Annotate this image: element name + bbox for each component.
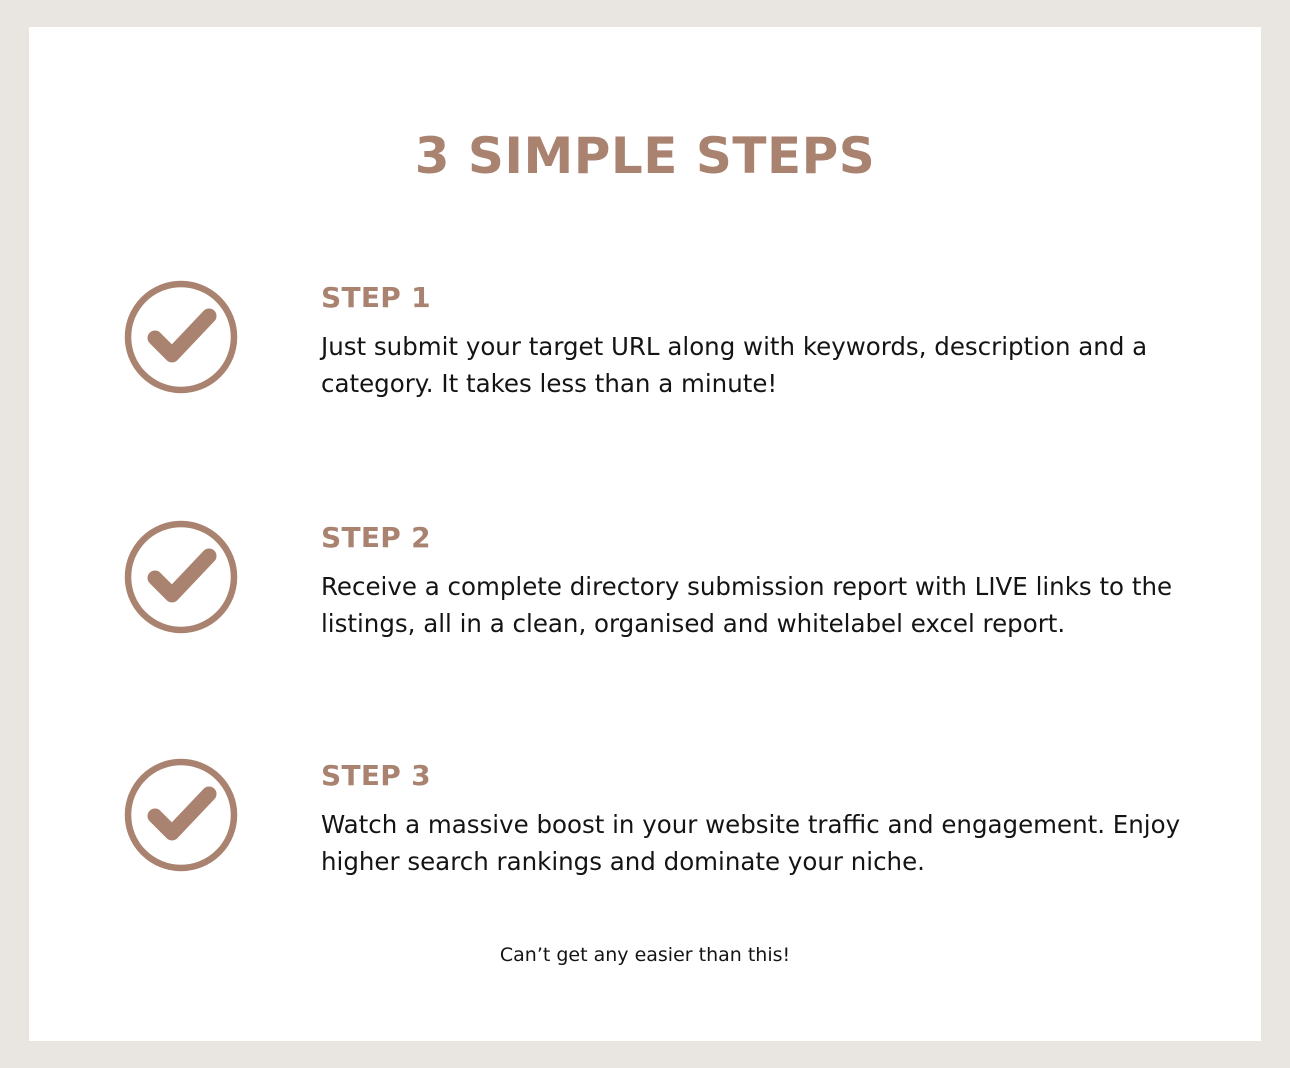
check-circle-icon bbox=[121, 277, 241, 397]
step-description: Receive a complete directory submission … bbox=[321, 568, 1211, 642]
check-circle-icon bbox=[121, 755, 241, 875]
step-text-block: STEP 2 Receive a complete directory subm… bbox=[321, 492, 1221, 642]
check-circle-icon bbox=[121, 517, 241, 637]
step-item: STEP 3 Watch a massive boost in your web… bbox=[121, 730, 1221, 870]
footer-note: Can’t get any easier than this! bbox=[29, 942, 1261, 969]
content-card: 3 SIMPLE STEPS STEP 1 Just submit your t… bbox=[29, 27, 1261, 1041]
step-description: Just submit your target URL along with k… bbox=[321, 328, 1211, 402]
step-item: STEP 1 Just submit your target URL along… bbox=[121, 252, 1221, 392]
step-label: STEP 3 bbox=[321, 762, 1221, 790]
step-text-block: STEP 3 Watch a massive boost in your web… bbox=[321, 730, 1221, 880]
step-description: Watch a massive boost in your website tr… bbox=[321, 806, 1211, 880]
step-text-block: STEP 1 Just submit your target URL along… bbox=[321, 252, 1221, 402]
step-label: STEP 1 bbox=[321, 284, 1221, 312]
step-label: STEP 2 bbox=[321, 524, 1221, 552]
step-item: STEP 2 Receive a complete directory subm… bbox=[121, 492, 1221, 632]
page-title: 3 SIMPLE STEPS bbox=[29, 131, 1261, 181]
